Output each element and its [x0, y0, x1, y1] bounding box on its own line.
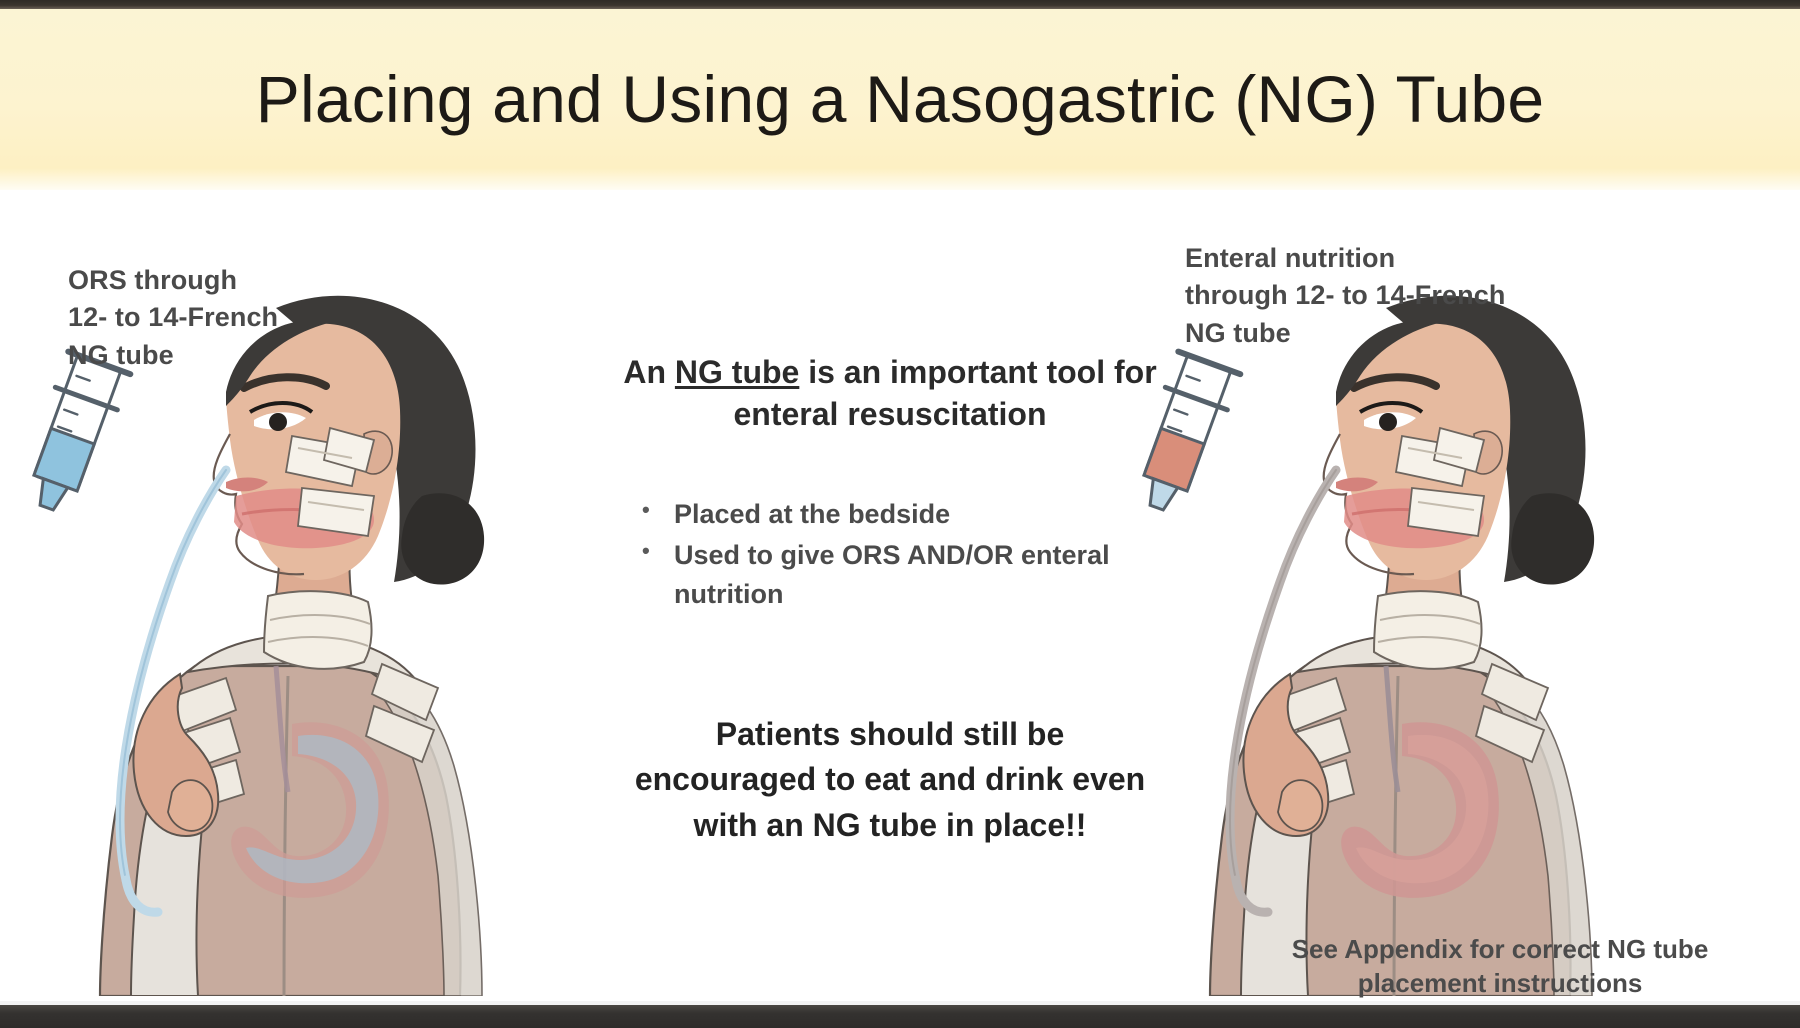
heading-underlined-term: NG tube	[675, 354, 799, 390]
center-emphasis-statement: Patients should still be encouraged to e…	[560, 712, 1220, 848]
list-item: Used to give ORS AND/OR enteral nutritio…	[590, 536, 1190, 614]
appendix-reference-note: See Appendix for correct NG tube placeme…	[1260, 932, 1740, 1001]
list-item: Placed at the bedside	[590, 495, 1190, 534]
title-banner: Placing and Using a Nasogastric (NG) Tub…	[0, 9, 1800, 190]
slide-top-border	[0, 0, 1800, 9]
slide-canvas: Placing and Using a Nasogastric (NG) Tub…	[0, 0, 1800, 1028]
center-text-block: An NG tube is an important tool for ente…	[590, 352, 1190, 616]
left-annotation-text: ORS through 12- to 14-French NG tube	[68, 262, 278, 374]
slide-bottom-border	[0, 1005, 1800, 1028]
right-annotation-text: Enteral nutrition through 12- to 14-Fren…	[1185, 240, 1505, 352]
slide-title: Placing and Using a Nasogastric (NG) Tub…	[256, 65, 1544, 134]
heading-prefix: An	[623, 354, 675, 390]
center-bullet-list: Placed at the bedside Used to give ORS A…	[590, 495, 1190, 614]
center-heading: An NG tube is an important tool for ente…	[590, 352, 1190, 435]
